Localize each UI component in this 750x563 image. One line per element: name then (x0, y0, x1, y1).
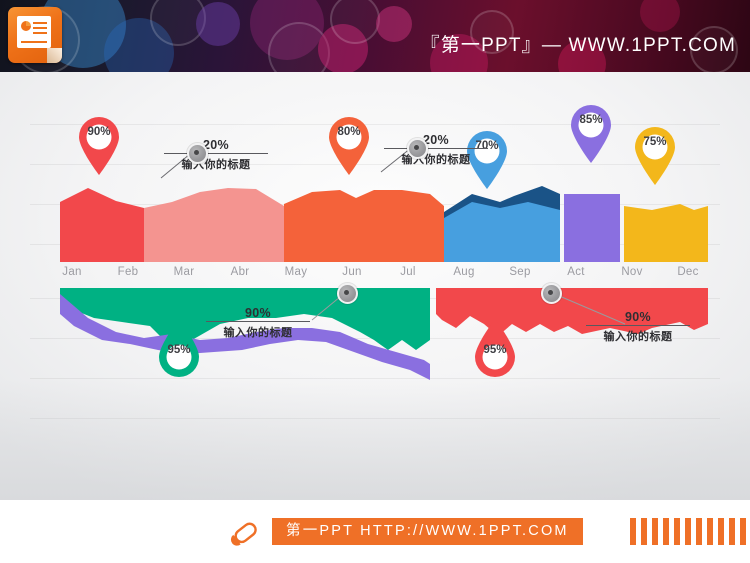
area-abr-jul-orange (284, 190, 444, 262)
top-band-chart (30, 102, 720, 270)
powerpoint-file-icon (8, 7, 62, 63)
footer-stripes (630, 518, 748, 545)
callout-anchor-dot[interactable] (407, 138, 428, 159)
area-feb-mar-pink (144, 188, 284, 262)
banner-title: 『第一PPT』— WWW.1PPT.COM (421, 30, 736, 57)
month-label-dec: Dec (659, 266, 717, 278)
pin-value: 80% (326, 126, 372, 138)
pin-marker-dec[interactable]: 75% (632, 124, 678, 186)
month-label-jun: Jun (323, 266, 381, 278)
area-jan-red (60, 188, 144, 262)
callout-title: 输入你的标题 (160, 156, 272, 172)
area-aug-sep-blue (444, 202, 560, 262)
area-nov-dec-yellow (624, 204, 708, 262)
callout-title: 输入你的标题 (380, 151, 492, 167)
callout-title: 输入你的标题 (202, 324, 314, 340)
callout-percent: 90% (202, 306, 314, 321)
callout-percent: 20% (160, 138, 272, 153)
callout-nov-bottom[interactable]: 90% 输入你的标题 (582, 310, 694, 344)
month-label-jan: Jan (43, 266, 101, 278)
month-label-sep: Sep (491, 266, 549, 278)
area-act-purple (564, 194, 620, 262)
callout-anchor-dot[interactable] (337, 283, 358, 304)
bokeh-circle (376, 6, 412, 42)
callout-anchor-dot[interactable] (541, 283, 562, 304)
pin-value: 95% (472, 344, 518, 356)
pin-value: 75% (632, 136, 678, 148)
pin-marker-jun[interactable]: 80% (326, 114, 372, 176)
callout-jun-bottom[interactable]: 90% 输入你的标题 (202, 306, 314, 340)
pin-marker-sep-bottom[interactable]: 95% (472, 318, 518, 380)
month-label-aug: Aug (435, 266, 493, 278)
bokeh-circle (196, 2, 240, 46)
pin-value: 85% (568, 114, 614, 126)
footer-bar: 第一PPT HTTP://WWW.1PPT.COM (0, 500, 750, 563)
callout-rule (164, 153, 268, 154)
chart-area: Jan Feb Mar Abr May Jun Jul Aug Sep Act … (30, 102, 720, 432)
callout-rule (206, 321, 310, 322)
slide-canvas: Jan Feb Mar Abr May Jun Jul Aug Sep Act … (0, 72, 750, 500)
footer-url[interactable]: 第一PPT HTTP://WWW.1PPT.COM (272, 518, 583, 545)
callout-percent: 90% (582, 310, 694, 325)
callout-rule (384, 148, 488, 149)
month-label-mar: Mar (155, 266, 213, 278)
callout-title: 输入你的标题 (582, 328, 694, 344)
month-label-may: May (267, 266, 325, 278)
month-label-jul: Jul (379, 266, 437, 278)
top-banner: 『第一PPT』— WWW.1PPT.COM (0, 0, 750, 72)
bokeh-circle (330, 0, 380, 44)
month-label-act: Act (547, 266, 605, 278)
callout-rule (586, 325, 690, 326)
callout-anchor-dot[interactable] (187, 143, 208, 164)
pencil-icon (228, 516, 268, 546)
month-axis: Jan Feb Mar Abr May Jun Jul Aug Sep Act … (30, 266, 720, 284)
pin-value: 90% (76, 126, 122, 138)
pin-marker-mar-bottom[interactable]: 95% (156, 318, 202, 380)
month-label-abr: Abr (211, 266, 269, 278)
month-label-nov: Nov (603, 266, 661, 278)
bokeh-circle (640, 0, 680, 32)
pin-marker-jan[interactable]: 90% (76, 114, 122, 176)
month-label-feb: Feb (99, 266, 157, 278)
callout-mar[interactable]: 20% 输入你的标题 (160, 138, 272, 172)
pin-marker-act[interactable]: 85% (568, 102, 614, 164)
pin-value: 95% (156, 344, 202, 356)
callout-percent: 20% (380, 133, 492, 148)
callout-jul[interactable]: 20% 输入你的标题 (380, 133, 492, 167)
